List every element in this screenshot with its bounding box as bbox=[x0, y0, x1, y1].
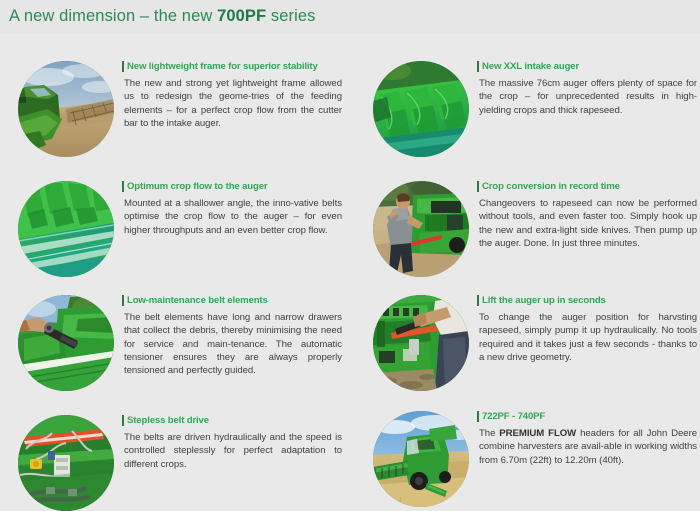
combine-harvesting-wheat-photo bbox=[373, 411, 469, 507]
feature-heading: Stepless belt drive bbox=[124, 415, 342, 427]
feature-block: New XXL intake auger The massive 76cm au… bbox=[373, 61, 697, 157]
page-header: A new dimension – the new 700PF series bbox=[0, 0, 700, 33]
feature-text: Crop conversion in record time Changeove… bbox=[479, 181, 697, 250]
thumbnail-wrapper bbox=[373, 61, 469, 157]
feature-block: Lift the auger up in seconds To change t… bbox=[373, 295, 697, 391]
feature-heading: Crop conversion in record time bbox=[479, 181, 697, 193]
feature-body-emphasis: PREMIUM FLOW bbox=[499, 428, 576, 439]
thumbnail-wrapper bbox=[373, 295, 469, 391]
page-title-part1: A new dimension – the new bbox=[9, 7, 217, 25]
combine-harvester-in-field-photo bbox=[18, 61, 114, 157]
feature-block: New lightweight frame for superior stabi… bbox=[18, 61, 342, 157]
feature-text: Low-maintenance belt elements The belt e… bbox=[124, 295, 342, 377]
feature-heading: New XXL intake auger bbox=[479, 61, 697, 73]
feature-body: The belt elements have long and narrow d… bbox=[124, 311, 342, 377]
feature-block: Crop conversion in record time Changeove… bbox=[373, 181, 697, 277]
hydraulic-belt-drive-photo bbox=[18, 415, 114, 511]
feature-body: To change the auger position for harvsti… bbox=[479, 311, 697, 364]
feature-body: The massive 76cm auger offers plenty of … bbox=[479, 77, 697, 117]
feature-heading: Optimum crop flow to the auger bbox=[124, 181, 342, 193]
feature-block: Low-maintenance belt elements The belt e… bbox=[18, 295, 342, 391]
feature-text: 722PF - 740PF The PREMIUM FLOW headers f… bbox=[479, 411, 697, 467]
right-column: New XXL intake auger The massive 76cm au… bbox=[350, 33, 700, 506]
feature-block: Optimum crop flow to the auger Mounted a… bbox=[18, 181, 342, 277]
page-title-part2: series bbox=[266, 7, 315, 25]
feature-text: New lightweight frame for superior stabi… bbox=[124, 61, 342, 130]
green-conveyor-belts-closeup-photo bbox=[18, 181, 114, 277]
operator-converting-header-photo bbox=[373, 181, 469, 277]
page-title: A new dimension – the new 700PF series bbox=[9, 7, 316, 26]
feature-text: Stepless belt drive The belts are driven… bbox=[124, 415, 342, 471]
feature-heading: Lift the auger up in seconds bbox=[479, 295, 697, 307]
belt-element-maintenance-photo bbox=[18, 295, 114, 391]
thumbnail-wrapper bbox=[373, 181, 469, 277]
feature-heading: New lightweight frame for superior stabi… bbox=[124, 61, 342, 73]
feature-text: New XXL intake auger The massive 76cm au… bbox=[479, 61, 697, 117]
xxl-intake-auger-photo bbox=[373, 61, 469, 157]
thumbnail-wrapper bbox=[373, 411, 469, 507]
content-columns: New lightweight frame for superior stabi… bbox=[0, 33, 700, 506]
feature-text: Optimum crop flow to the auger Mounted a… bbox=[124, 181, 342, 237]
thumbnail-wrapper bbox=[18, 415, 114, 511]
thumbnail-wrapper bbox=[18, 61, 114, 157]
feature-body: Changeovers to rapeseed can now be perfo… bbox=[479, 197, 697, 250]
feature-body: The belts are driven hydraulically and t… bbox=[124, 431, 342, 471]
page-title-model: 700PF bbox=[217, 7, 266, 25]
feature-block: 722PF - 740PF The PREMIUM FLOW headers f… bbox=[373, 411, 697, 507]
left-column: New lightweight frame for superior stabi… bbox=[0, 33, 350, 506]
feature-body: Mounted at a shallower angle, the inno-v… bbox=[124, 197, 342, 237]
operator-pumping-auger-photo bbox=[373, 295, 469, 391]
thumbnail-wrapper bbox=[18, 181, 114, 277]
feature-body: The new and strong yet lightweight frame… bbox=[124, 77, 342, 130]
feature-heading: Low-maintenance belt elements bbox=[124, 295, 342, 307]
feature-block: Stepless belt drive The belts are driven… bbox=[18, 415, 342, 511]
feature-body-pre: The bbox=[479, 428, 499, 439]
feature-body: The PREMIUM FLOW headers for all John De… bbox=[479, 427, 697, 467]
feature-text: Lift the auger up in seconds To change t… bbox=[479, 295, 697, 364]
feature-heading: 722PF - 740PF bbox=[479, 411, 697, 423]
thumbnail-wrapper bbox=[18, 295, 114, 391]
